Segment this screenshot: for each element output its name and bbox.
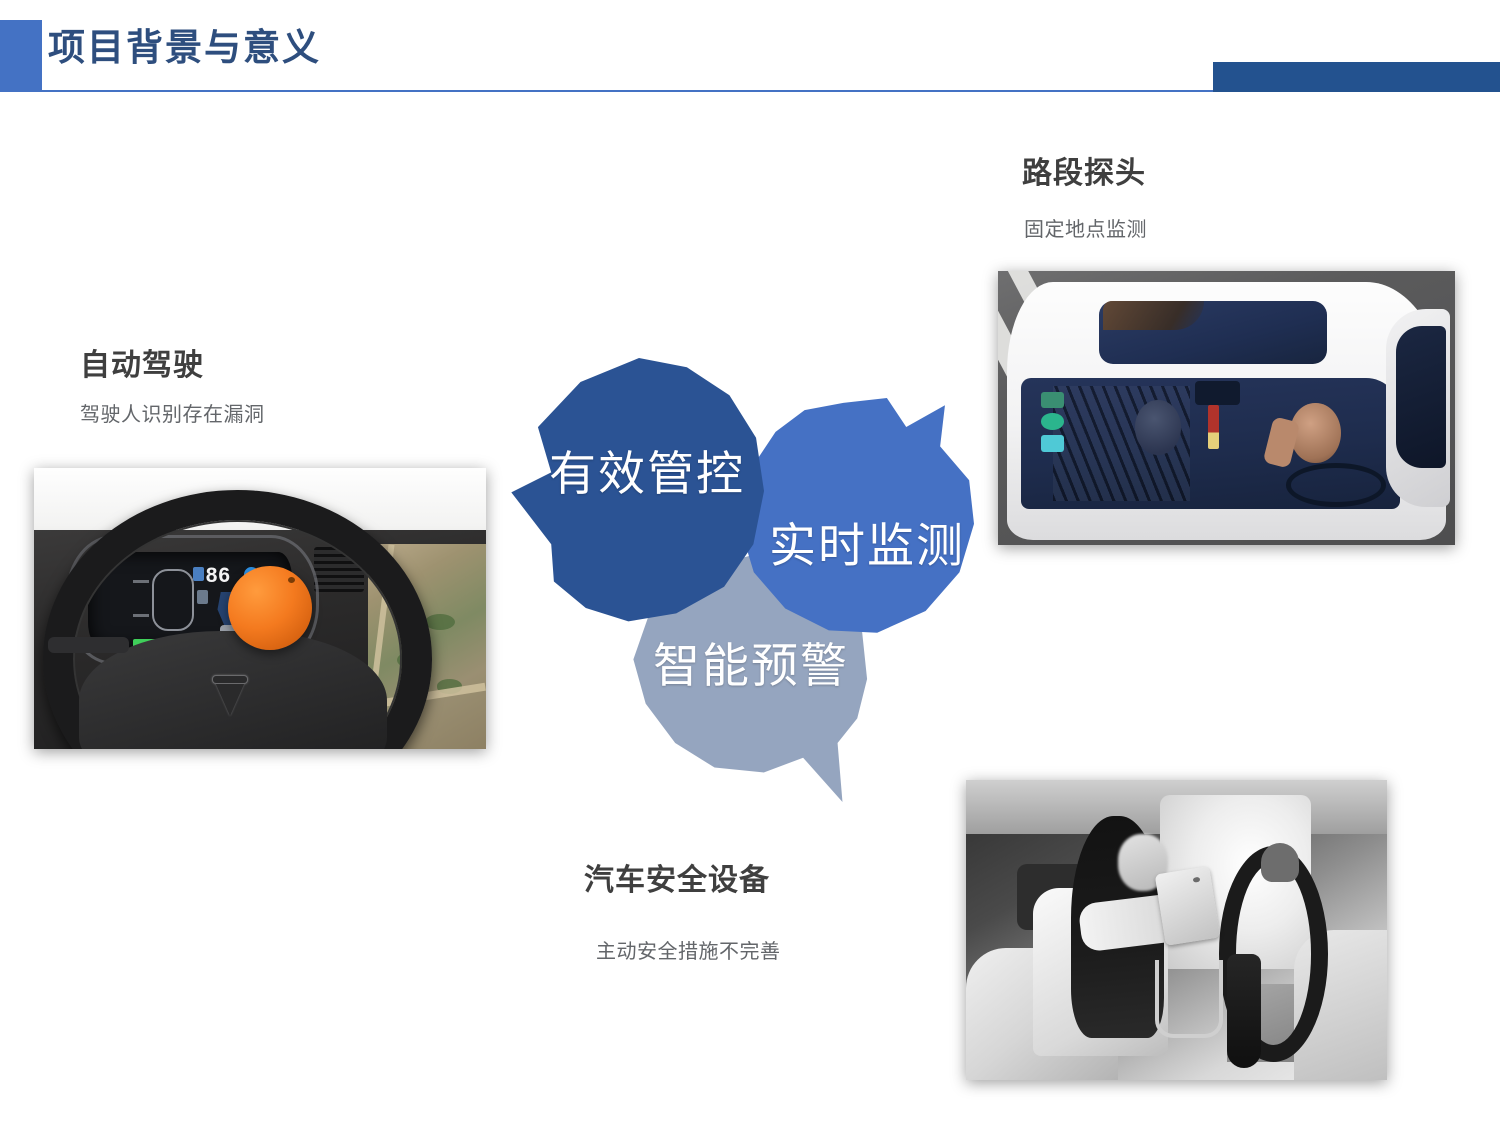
gear-shifter: [1227, 954, 1261, 1068]
caption-title-roadcam: 路段探头: [1022, 148, 1146, 192]
rearview-mirror: [1195, 381, 1241, 406]
speech-bubble-monitor-label: 实时监测: [769, 507, 965, 576]
driver-head: [1290, 403, 1340, 463]
slide: 项目背景与意义 自动驾驶 驾驶人识别存在漏洞 路段探头 固定地点监测 汽车安全设…: [0, 0, 1500, 1125]
header-accent-bar-right: [1213, 62, 1500, 92]
driver-hand-on-wheel: [1261, 843, 1299, 882]
caption-subtitle-safety: 主动安全措施不完善: [596, 935, 781, 964]
caption-title-autodrive: 自动驾驶: [80, 340, 204, 384]
cabin-scene: [966, 780, 1387, 1080]
tesla-scene: 86: [34, 468, 486, 749]
page-title: 项目背景与意义: [48, 25, 321, 71]
handbag: [1155, 960, 1222, 1038]
caption-subtitle-roadcam: 固定地点监测: [1024, 213, 1147, 242]
speech-bubble-control-label: 有效管控: [549, 435, 745, 504]
windshield-sticker: [1041, 435, 1064, 451]
windshield-sticker: [1041, 413, 1064, 429]
caption-title-safety: 汽车安全设备: [584, 855, 770, 899]
photo-cabin-monitoring: [966, 780, 1387, 1080]
hanging-pendant: [1208, 405, 1219, 449]
speech-bubble-warning-label: 智能预警: [653, 627, 849, 696]
caption-subtitle-autodrive: 驾驶人识别存在漏洞: [80, 398, 265, 427]
tesla-turn-signal-stalk: [48, 637, 129, 654]
header-accent-bar-left: [0, 20, 42, 89]
car-sunroof: [1099, 301, 1328, 364]
roadcam-scene: [998, 271, 1455, 545]
mobile-phone-in-hand: [1154, 866, 1219, 946]
photo-road-camera: [998, 271, 1455, 545]
tesla-logo-icon: [215, 682, 245, 716]
car-side-window: [1396, 326, 1446, 468]
car-steering-wheel: [1286, 463, 1387, 507]
passenger-head: [1135, 400, 1181, 455]
windshield-sticker: [1041, 392, 1064, 408]
photo-tesla-cockpit: 86: [34, 468, 486, 749]
